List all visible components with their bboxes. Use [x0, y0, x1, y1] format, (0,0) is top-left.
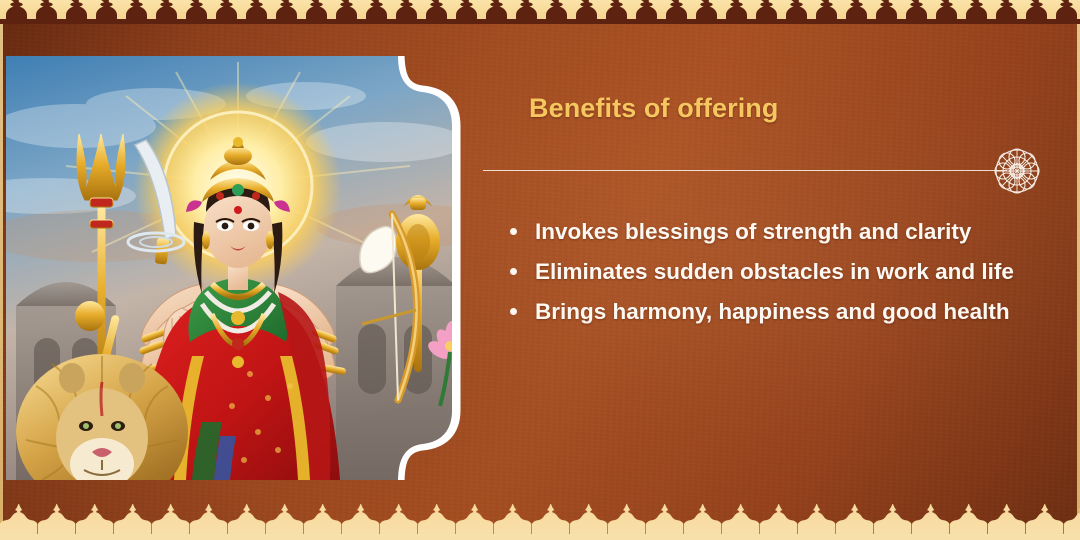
mandala-flower-ornament [987, 141, 1047, 201]
list-item: Brings harmony, happiness and good healt… [503, 292, 1023, 332]
bullet-dot-icon [510, 228, 517, 235]
benefits-list: Invokes blessings of strength and clarit… [503, 212, 1023, 332]
page-title: Benefits of offering [529, 93, 1053, 124]
list-item: Eliminates sudden obstacles in work and … [503, 252, 1023, 292]
slide-canvas: Benefits of offering [0, 0, 1080, 540]
deity-image-panel [6, 56, 470, 480]
content-column: Benefits of offering [483, 62, 1053, 482]
list-item: Invokes blessings of strength and clarit… [503, 212, 1023, 252]
list-item-label: Brings harmony, happiness and good healt… [535, 299, 1010, 324]
bullet-dot-icon [510, 308, 517, 315]
list-item-label: Invokes blessings of strength and clarit… [535, 219, 971, 244]
list-item-label: Eliminates sudden obstacles in work and … [535, 259, 1014, 284]
bullet-dot-icon [510, 268, 517, 275]
divider-line [483, 170, 1007, 171]
bottom-decorative-border [0, 500, 1080, 540]
divider-row [483, 170, 1053, 171]
durga-illustration [6, 56, 470, 480]
bindi [234, 206, 242, 214]
top-decorative-border [0, 0, 1080, 24]
left-edge-rail [0, 0, 3, 540]
